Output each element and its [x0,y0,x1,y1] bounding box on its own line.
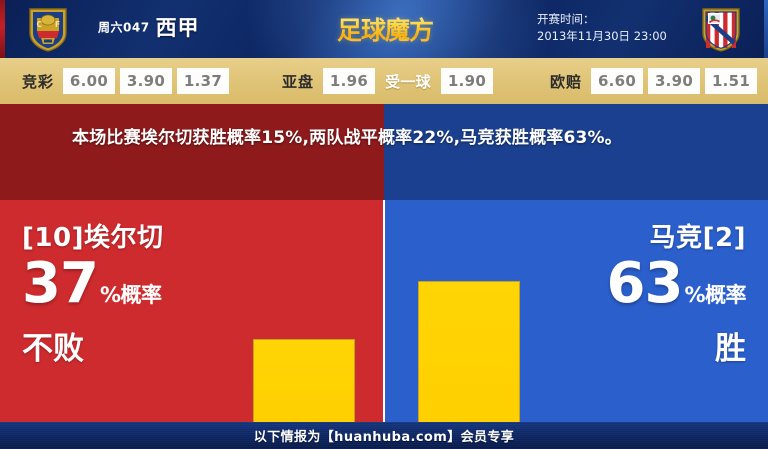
home-percent-suffix: %概率 [100,283,162,307]
away-outcome-label: 胜 [607,329,746,369]
probability-banner: 本场比赛埃尔切获胜概率15%,两队战平概率22%,马竞获胜概率63%。 [0,104,768,200]
footer-bar: 以下情报为【huanhuba.com】会员专享 [0,422,768,449]
odds-cell-handicap: 受一球 [380,68,436,94]
odds-cell-home[interactable]: 6.00 [63,68,115,94]
odds-cell-away[interactable]: 1.51 [705,68,757,94]
svg-text:F: F [55,20,60,29]
header-right-accent [764,0,768,58]
odds-group-european: 欧赔 6.60 3.90 1.51 [550,68,762,94]
away-team-name: 马竞[2] [607,222,746,254]
home-percent-row: 37%概率 [22,254,163,327]
odds-cell-away[interactable]: 1.37 [177,68,229,94]
odds-group-jingcai: 竞彩 6.00 3.90 1.37 [22,68,234,94]
odds-cell-home[interactable]: 1.96 [323,68,375,94]
home-team-name: [10]埃尔切 [22,222,163,254]
odds-cell-home[interactable]: 6.60 [591,68,643,94]
home-panel: [10]埃尔切 37%概率 不败 [0,200,384,422]
atletico-madrid-crest-icon [697,5,745,53]
brand-logo[interactable]: 足球魔方 [330,6,440,51]
home-stats: [10]埃尔切 37%概率 不败 [22,222,163,369]
home-probability-bar [253,339,355,422]
brand-logo-text: 足球魔方 [337,11,433,47]
match-league-label: 西甲 [156,16,200,40]
header-bar: C F 周六047西甲 足球魔方 开赛时间 [0,0,768,58]
odds-cell-draw[interactable]: 3.90 [648,68,700,94]
match-round-label: 周六047 [98,21,150,35]
away-percent-row: 63%概率 [607,254,746,327]
elche-cf-crest-icon: C F [24,5,72,53]
away-percent-value: 63 [607,251,683,316]
odds-cell-away[interactable]: 1.90 [441,68,493,94]
match-prediction-card: C F 周六047西甲 足球魔方 开赛时间 [0,0,768,449]
odds-group-label: 竞彩 [22,71,54,92]
odds-cell-draw[interactable]: 3.90 [120,68,172,94]
away-percent-suffix: %概率 [684,283,746,307]
header-left-accent [0,0,5,58]
panel-divider [383,200,385,422]
home-percent-value: 37 [22,251,98,316]
kickoff-label: 开赛时间： [537,11,667,28]
probability-summary-text: 本场比赛埃尔切获胜概率15%,两队战平概率22%,马竞获胜概率63%。 [72,124,722,153]
kickoff-value: 2013年11月30日 23:00 [537,28,667,45]
home-outcome-label: 不败 [22,329,163,369]
svg-text:C: C [37,20,43,29]
kickoff-info: 开赛时间： 2013年11月30日 23:00 [537,11,667,45]
footer-notice: 以下情报为【huanhuba.com】会员专享 [254,426,514,445]
match-meta: 周六047西甲 [98,12,200,42]
odds-group-label: 欧赔 [550,71,582,92]
away-probability-bar [418,281,520,422]
away-stats: 马竞[2] 63%概率 胜 [607,222,746,369]
odds-group-label: 亚盘 [282,71,314,92]
odds-bar: 竞彩 6.00 3.90 1.37 亚盘 1.96 受一球 1.90 欧赔 6.… [0,58,768,104]
odds-group-asian: 亚盘 1.96 受一球 1.90 [282,68,498,94]
away-panel: 马竞[2] 63%概率 胜 [384,200,768,422]
